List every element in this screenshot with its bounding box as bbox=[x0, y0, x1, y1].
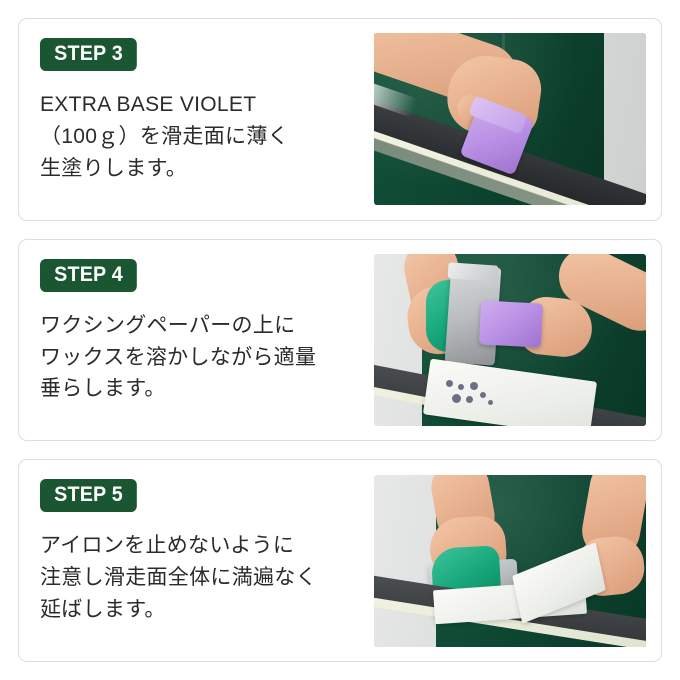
step-4-badge: STEP 4 bbox=[40, 259, 137, 292]
step-card-4: STEP 4 ワクシングペーパーの上に ワックスを溶かしながら適量 垂らします。 bbox=[18, 239, 662, 442]
photo-step-5 bbox=[374, 475, 646, 647]
photo-step-4 bbox=[374, 254, 646, 426]
step-3-photo-column bbox=[367, 19, 661, 220]
step-4-text-column: STEP 4 ワクシングペーパーの上に ワックスを溶かしながら適量 垂らします。 bbox=[19, 240, 367, 441]
step-3-badge: STEP 3 bbox=[40, 38, 137, 71]
wax-drop bbox=[480, 392, 486, 398]
step-3-description: EXTRA BASE VIOLET （100ｇ）を滑走面に薄く 生塗りします。 bbox=[40, 89, 289, 185]
step-5-badge: STEP 5 bbox=[40, 479, 137, 512]
step-3-text-column: STEP 3 EXTRA BASE VIOLET （100ｇ）を滑走面に薄く 生… bbox=[19, 19, 367, 220]
step-card-5: STEP 5 アイロンを止めないように 注意し滑走面全体に満遍なく 延ばします。 bbox=[18, 459, 662, 662]
wax-drop bbox=[452, 394, 461, 403]
step-4-description: ワクシングペーパーの上に ワックスを溶かしながら適量 垂らします。 bbox=[40, 310, 316, 406]
photo-step-3 bbox=[374, 33, 646, 205]
steps-page: STEP 3 EXTRA BASE VIOLET （100ｇ）を滑走面に薄く 生… bbox=[0, 0, 680, 680]
iron-top-plate bbox=[447, 262, 498, 281]
wax-drop bbox=[446, 380, 453, 387]
wax-block-violet bbox=[478, 300, 542, 347]
step-5-photo-column bbox=[367, 460, 661, 661]
wax-drop bbox=[458, 384, 464, 390]
step-card-3: STEP 3 EXTRA BASE VIOLET （100ｇ）を滑走面に薄く 生… bbox=[18, 18, 662, 221]
step-4-photo-column bbox=[367, 240, 661, 441]
wax-drop bbox=[470, 382, 478, 390]
step-5-description: アイロンを止めないように 注意し滑走面全体に満遍なく 延ばします。 bbox=[40, 530, 317, 626]
wax-drop bbox=[466, 396, 473, 403]
wax-drop bbox=[488, 400, 493, 405]
step-5-text-column: STEP 5 アイロンを止めないように 注意し滑走面全体に満遍なく 延ばします。 bbox=[19, 460, 367, 661]
